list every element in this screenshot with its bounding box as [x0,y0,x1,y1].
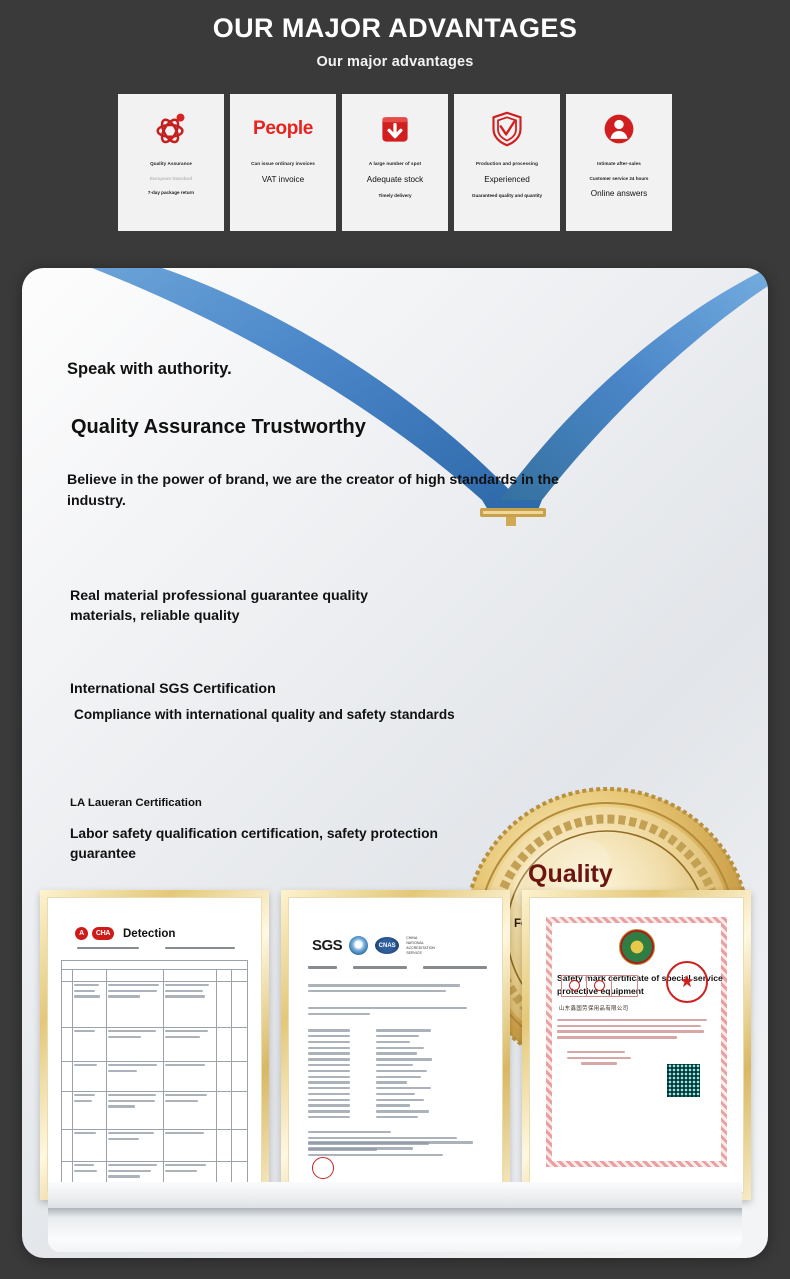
advantage-card-after-sales[interactable]: Intimate after-sales Customer service 24… [566,94,672,231]
card-line-2: VAT invoice [234,175,332,186]
report-meta [53,940,256,953]
page-header: OUR MAJOR ADVANTAGES Our major advantage… [0,0,790,70]
advantage-card-adequate-stock[interactable]: A large number of spot Adequate stock Ti… [342,94,448,231]
card-line-1: Quality Assurance [122,161,220,168]
block-body: materials, reliable quality [70,606,490,626]
panel-block-sgs: International SGS Certification Complian… [70,679,490,724]
block-head: LA Laueran Certification [70,796,490,812]
cnas-note: CHINA NATIONAL ACCREDITATION SERVICE [406,936,428,955]
atom-icon [152,107,190,151]
advantages-page: OUR MAJOR ADVANTAGES Our major advantage… [0,0,790,1279]
card-line-1: Production and processing [458,161,556,168]
people-wordmark-label: People [253,118,313,140]
safety-mark-body [535,1012,738,1039]
display-shelf [22,1174,768,1258]
cnas-badge-icon: CNAS [375,937,399,954]
card-line-1: A large number of spot [346,161,444,168]
page-title: OUR MAJOR ADVANTAGES [0,14,790,44]
block-body: Compliance with international quality an… [70,705,490,724]
sgs-logo-row: SGS CNAS CHINA NATIONAL ACCREDITATION SE… [294,903,497,955]
certificate-sgs-report[interactable]: SGS CNAS CHINA NATIONAL ACCREDITATION SE… [281,890,510,1200]
official-red-seal-icon: ★ [666,961,708,1003]
panel-block-la: LA Laueran Certification Labor safety qu… [70,796,490,863]
block-head: International SGS Certification [70,679,490,699]
sgs-sample-table [294,1018,497,1122]
stamp-grid [561,975,638,997]
card-line-2: European Standard [122,176,220,183]
panel-lead: Speak with authority. [67,360,567,379]
safety-mark-fields [535,1042,738,1065]
page-subtitle: Our major advantages [0,54,790,70]
cha-badge-a: A [75,927,88,940]
people-wordmark-icon: People [253,107,313,151]
card-line-2: Adequate stock [346,175,444,186]
advantage-card-vat-invoice[interactable]: People Can issue ordinary invoices VAT i… [230,94,336,231]
bureau-veritas-badge-icon [349,936,368,955]
cha-logo-row: A CHA Detection [53,903,256,940]
advantage-card-experienced[interactable]: Production and processing Experienced Gu… [454,94,560,231]
panel-copy: Speak with authority. Quality Assurance … [67,360,567,511]
advantage-card-text: Can issue ordinary invoices VAT invoice [230,151,336,186]
qr-code-icon [667,1064,700,1097]
panel-intro: Believe in the power of brand, we are th… [67,470,567,511]
card-line-1: Intimate after-sales [570,161,668,168]
panel-block-material: Real material professional guarantee qua… [70,586,490,626]
card-line-1: Can issue ordinary invoices [234,161,332,168]
card-line-3: 7-day package return [122,190,220,197]
cha-badge-b: CHA [92,927,114,940]
sgs-footer [308,1141,483,1153]
advantage-card-text: Quality Assurance European Standard 7-da… [118,151,224,198]
advantage-card-text: Production and processing Experienced Gu… [454,151,560,200]
box-download-icon [377,107,413,151]
sgs-address [294,972,497,992]
advantage-card-text: A large number of spot Adequate stock Ti… [342,151,448,200]
advantage-card-list: Quality Assurance European Standard 7-da… [116,94,674,231]
block-body: Labor safety qualification certification… [70,824,490,863]
advantage-card-quality-assurance[interactable]: Quality Assurance European Standard 7-da… [118,94,224,231]
detection-label: Detection [123,928,175,940]
sgs-wordmark: SGS [312,937,342,954]
safety-mark-emblem-icon [619,929,655,965]
quality-assurance-panel: Quality Focus on high-quality safety sho… [22,268,768,1258]
sgs-statement [294,996,497,1015]
card-line-3: Online answers [570,189,668,200]
sgs-meta [294,955,497,972]
user-circle-icon [601,107,637,151]
card-line-3: Guaranteed quality and quantity [458,193,556,200]
advantage-card-text: Intimate after-sales Customer service 24… [566,151,672,200]
certificate-gallery: A CHA Detection [40,890,752,1200]
panel-headline: Quality Assurance Trustworthy [67,416,567,439]
certificate-safety-mark[interactable]: Safety mark certificate of special servi… [522,890,751,1200]
certificate-detection-report[interactable]: A CHA Detection [40,890,269,1200]
report-table [61,960,248,1187]
block-head: Real material professional guarantee qua… [70,586,490,606]
card-line-2: Customer service 24 hours [570,176,668,183]
safety-mark-company: 山东鑫国劳保用品有限公司 [535,998,738,1012]
card-line-3: Timely delivery [346,193,444,200]
shield-check-icon [489,107,525,151]
card-line-2: Experienced [458,175,556,186]
